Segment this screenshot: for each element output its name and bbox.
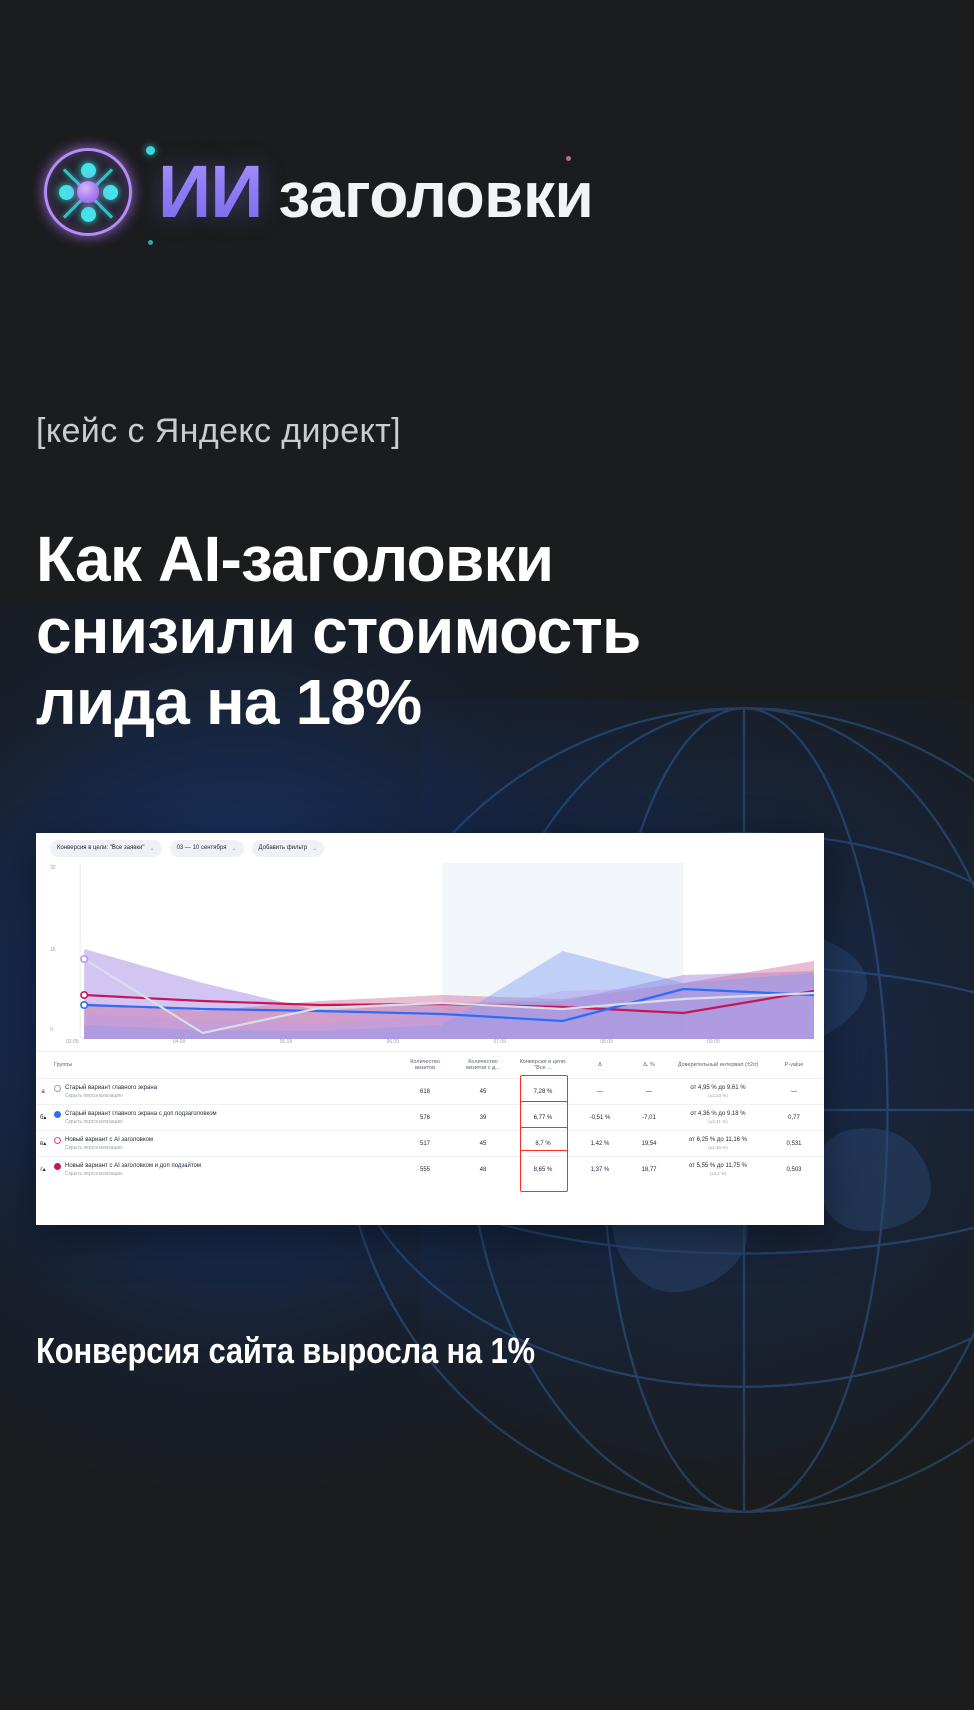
chart-x-axis: 03.09 04.09 05.09 06.09 07.09 08.09 09.0… — [66, 1039, 814, 1051]
table-header-rowmark — [36, 1052, 50, 1079]
row-ci-sigma: (±2,46 %) — [676, 1145, 760, 1151]
filter-goal-conversion[interactable]: Конверсия в цели: "Все заявки" ⌄ — [50, 840, 162, 857]
brand-logo: ИИ заголовки — [36, 140, 593, 244]
logo-node-bottom — [77, 203, 99, 225]
row-visits: 618 — [396, 1079, 454, 1105]
row-ci: от 5,55 % до 11,75 % (±3,1 %) — [672, 1157, 764, 1183]
dashboard-screenshot: Конверсия в цели: "Все заявки" ⌄ 03 — 10… — [36, 833, 824, 1225]
row-delta: 1,37 % — [574, 1157, 626, 1183]
chevron-down-icon: ⌄ — [312, 845, 317, 852]
logo-text-accent: ИИ — [158, 155, 262, 229]
table-header-delta[interactable]: Δ — [574, 1052, 626, 1079]
row-ci: от 6,25 % до 11,16 % (±2,46 %) — [672, 1131, 764, 1157]
row-delta-pct: -7,01 — [626, 1105, 672, 1131]
row-group-name: Новый вариант с AI заголовком и доп подз… — [65, 1162, 201, 1170]
filter-date-range-label: 03 — 10 сентября — [177, 845, 227, 851]
x-tick-2: 05.09 — [280, 1039, 387, 1051]
logo-text-rest: заголовки — [278, 163, 593, 227]
row-ci-sigma: (±3,1 %) — [676, 1171, 760, 1177]
page-title: Как AI-заголовки снизили стоимость лида … — [36, 524, 776, 739]
result-caption: Конверсия сайта выросла на 1% — [36, 1330, 535, 1372]
row-ci-range: от 4,95 % до 9,61 % — [690, 1085, 745, 1091]
row-group-action[interactable]: Скрыть персонализацию — [65, 1145, 153, 1151]
row-mark: б▴ — [36, 1105, 50, 1131]
logo-node-center — [77, 181, 99, 203]
row-delta: -0,51 % — [574, 1105, 626, 1131]
row-ci-sigma: (±2,33 %) — [676, 1093, 760, 1099]
row-delta: 1,42 % — [574, 1131, 626, 1157]
filter-add[interactable]: Добавить фильтр ⌄ — [252, 840, 325, 857]
row-ci-range: от 5,55 % до 11,75 % — [689, 1163, 747, 1169]
row-group-action[interactable]: Скрыть персонализацию — [65, 1171, 201, 1177]
row-delta-pct: — — [626, 1079, 672, 1105]
x-tick-6: 09.09 — [707, 1039, 814, 1051]
row-ci-sigma: (±2,41 %) — [676, 1119, 760, 1125]
conversion-area-chart: 32 16 0 — [50, 863, 814, 1039]
row-group-action[interactable]: Скрыть персонализацию — [65, 1093, 157, 1099]
filter-add-label: Добавить фильтр — [259, 845, 308, 851]
row-group-action[interactable]: Скрыть персонализацию — [65, 1119, 217, 1125]
row-pvalue: — — [764, 1079, 824, 1105]
table-row[interactable]: г▴ Новый вариант с AI заголовком и доп п… — [36, 1157, 824, 1183]
table-header-visits-goal[interactable]: Количество визитов с д... — [454, 1052, 512, 1079]
row-pvalue: 0,503 — [764, 1157, 824, 1183]
accent-dot-pink — [566, 156, 571, 161]
row-delta-pct: 18,77 — [626, 1157, 672, 1183]
row-mark: г▴ — [36, 1157, 50, 1183]
row-visits: 555 — [396, 1157, 454, 1183]
row-group-name: Старый вариант главного экрана с доп под… — [65, 1110, 217, 1118]
row-delta: — — [574, 1079, 626, 1105]
row-visits-goal: 39 — [454, 1105, 512, 1131]
row-mark: а — [36, 1079, 50, 1105]
row-mark: в▴ — [36, 1131, 50, 1157]
row-group-cell: Старый вариант главного экрана с доп под… — [50, 1105, 396, 1131]
table-header-groups[interactable]: Группы — [50, 1052, 396, 1079]
accent-dot-cyan-small — [148, 240, 153, 245]
y-tick-mid: 16 — [50, 947, 56, 953]
row-group-name: Новый вариант с AI заголовком — [65, 1136, 153, 1144]
row-delta-pct: 19,54 — [626, 1131, 672, 1157]
series-bullet-icon — [54, 1163, 61, 1170]
row-visits-goal: 45 — [454, 1131, 512, 1157]
ai-network-circle-icon — [36, 140, 140, 244]
logo-node-left — [55, 181, 77, 203]
row-pvalue: 0,77 — [764, 1105, 824, 1131]
row-group-cell: Новый вариант с AI заголовком и доп подз… — [50, 1157, 396, 1183]
table-header-ci[interactable]: Доверительный интервал (±2σ) — [672, 1052, 764, 1079]
row-visits-goal: 45 — [454, 1079, 512, 1105]
row-pvalue: 0,531 — [764, 1131, 824, 1157]
x-tick-1: 04.09 — [173, 1039, 280, 1051]
row-conversion-highlighted: 6,77 % — [512, 1105, 574, 1131]
table-header-row: Группы Количество визитов Количество виз… — [36, 1052, 824, 1079]
row-visits-goal: 48 — [454, 1157, 512, 1183]
row-group-cell: Новый вариант с AI заголовком Скрыть пер… — [50, 1131, 396, 1157]
row-group-name: Старый вариант главного экрана — [65, 1084, 157, 1092]
x-tick-4: 07.09 — [493, 1039, 600, 1051]
table-header-pvalue[interactable]: P-value — [764, 1052, 824, 1079]
series-bullet-icon — [54, 1137, 61, 1144]
row-conversion-highlighted: 8,65 % — [512, 1157, 574, 1183]
eyebrow-label: [кейс с Яндекс директ] — [36, 412, 401, 451]
chevron-down-icon: ⌄ — [150, 845, 155, 852]
ab-test-table: Группы Количество визитов Количество виз… — [36, 1051, 824, 1182]
x-tick-5: 08.09 — [600, 1039, 707, 1051]
accent-dot-cyan — [146, 146, 155, 155]
series-bullet-icon — [54, 1085, 61, 1092]
table-row[interactable]: а Старый вариант главного экрана Скрыть … — [36, 1079, 824, 1105]
x-tick-3: 06.09 — [387, 1039, 494, 1051]
filter-date-range[interactable]: 03 — 10 сентября ⌄ — [170, 840, 244, 857]
series-bullet-icon — [54, 1111, 61, 1118]
dashboard-toolbar: Конверсия в цели: "Все заявки" ⌄ 03 — 10… — [36, 833, 824, 863]
logo-node-top — [77, 159, 99, 181]
y-tick-max: 32 — [50, 865, 56, 871]
row-conversion-highlighted: 7,28 % — [512, 1079, 574, 1105]
row-ci: от 4,36 % до 9,18 % (±2,41 %) — [672, 1105, 764, 1131]
table-row[interactable]: в▴ Новый вариант с AI заголовком Скрыть … — [36, 1131, 824, 1157]
table-header-conversion[interactable]: Конверсия в цели: "Все ... — [512, 1052, 574, 1079]
logo-node-right — [99, 181, 121, 203]
filter-goal-conversion-label: Конверсия в цели: "Все заявки" — [57, 845, 145, 851]
row-ci-range: от 4,36 % до 9,18 % — [690, 1111, 745, 1117]
row-ci: от 4,95 % до 9,61 % (±2,33 %) — [672, 1079, 764, 1105]
row-ci-range: от 6,25 % до 11,16 % — [689, 1137, 747, 1143]
x-tick-0: 03.09 — [66, 1039, 173, 1051]
row-conversion-highlighted: 8,7 % — [512, 1131, 574, 1157]
row-visits: 576 — [396, 1105, 454, 1131]
table-header-delta-pct[interactable]: Δ, % — [626, 1052, 672, 1079]
row-group-cell: Старый вариант главного экрана Скрыть пе… — [50, 1079, 396, 1105]
y-tick-min: 0 — [50, 1027, 53, 1033]
chevron-down-icon: ⌄ — [232, 845, 237, 852]
table-row[interactable]: б▴ Старый вариант главного экрана с доп … — [36, 1105, 824, 1131]
row-visits: 517 — [396, 1131, 454, 1157]
table-header-visits[interactable]: Количество визитов — [396, 1052, 454, 1079]
